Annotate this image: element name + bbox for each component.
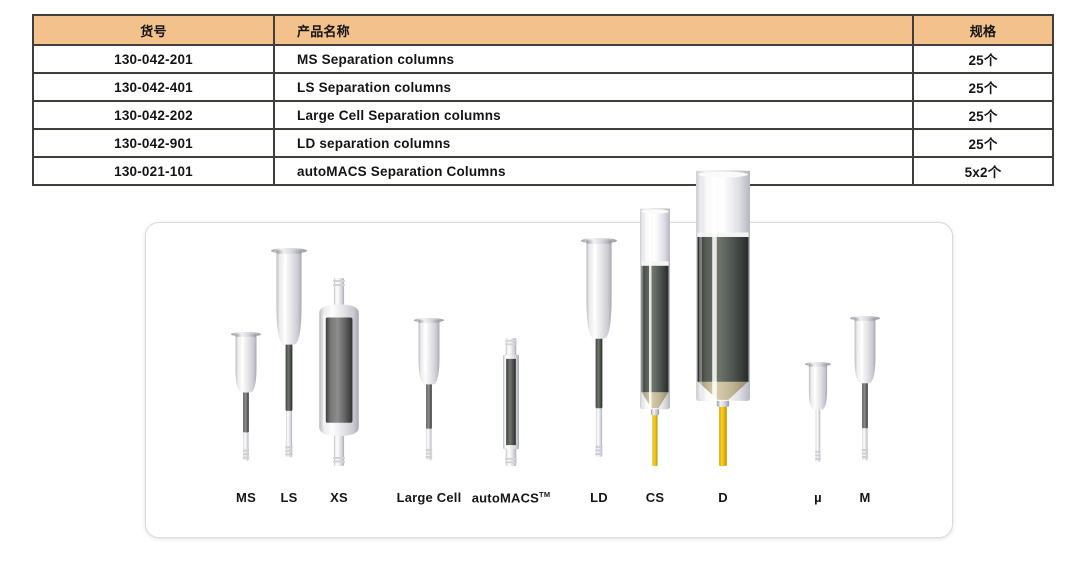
trademark-mark: TM [539, 490, 550, 499]
cell-product-code: 130-042-401 [33, 73, 274, 101]
column-label-m: M [859, 490, 870, 505]
column-illustration-cs [640, 208, 670, 471]
cell-product-code: 130-042-202 [33, 101, 274, 129]
table-row: 130-042-202Large Cell Separation columns… [33, 101, 1053, 129]
cell-product-spec: 25个 [913, 101, 1053, 129]
column-label-large-cell: Large Cell [397, 490, 462, 505]
column-label-automacs: autoMACSTM [472, 490, 551, 505]
cell-product-name: Large Cell Separation columns [274, 101, 913, 129]
cell-product-spec: 25个 [913, 129, 1053, 157]
column-illustration-ls [271, 248, 307, 471]
cell-product-code: 130-042-901 [33, 129, 274, 157]
column-header-code: 货号 [33, 15, 274, 45]
table-row: 130-021-101autoMACS Separation Columns5x… [33, 157, 1053, 185]
columns-stage: MS [146, 223, 954, 539]
column-label-text: LS [280, 490, 297, 505]
column-label-text: D [718, 490, 728, 505]
cell-product-code: 130-042-201 [33, 45, 274, 73]
column-illustration-large-cell [414, 318, 444, 471]
separation-columns-photo-panel: MS [145, 222, 953, 538]
product-table: 货号 产品名称 规格 130-042-201MS Separation colu… [32, 14, 1054, 186]
column-illustration-d [696, 170, 750, 471]
column-label-mu: µ [814, 490, 822, 505]
column-label-text: MS [236, 490, 256, 505]
column-label-ms: MS [236, 490, 256, 505]
column-illustration-m [850, 316, 880, 471]
cell-product-spec: 25个 [913, 45, 1053, 73]
cell-product-code: 130-021-101 [33, 157, 274, 185]
column-illustration-mu [805, 362, 831, 471]
table-header-row: 货号 产品名称 规格 [33, 15, 1053, 45]
cell-product-spec: 25个 [913, 73, 1053, 101]
column-header-spec: 规格 [913, 15, 1053, 45]
table-row: 130-042-901LD separation columns25个 [33, 129, 1053, 157]
column-header-name: 产品名称 [274, 15, 913, 45]
table-body: 130-042-201MS Separation columns25个130-0… [33, 45, 1053, 185]
column-label-d: D [718, 490, 728, 505]
column-label-text: M [859, 490, 870, 505]
column-label-text: LD [590, 490, 608, 505]
table-header: 货号 产品名称 规格 [33, 15, 1053, 45]
column-label-text: XS [330, 490, 348, 505]
column-label-xs: XS [330, 490, 348, 505]
table-row: 130-042-401LS Separation columns25个 [33, 73, 1053, 101]
cell-product-name: LD separation columns [274, 129, 913, 157]
table-row: 130-042-201MS Separation columns25个 [33, 45, 1053, 73]
column-label-text: Large Cell [397, 490, 462, 505]
cell-product-spec: 5x2个 [913, 157, 1053, 185]
column-illustration-ld [581, 238, 617, 471]
column-label-ls: LS [280, 490, 297, 505]
column-label-text: CS [646, 490, 664, 505]
column-label-ld: LD [590, 490, 608, 505]
cell-product-name: MS Separation columns [274, 45, 913, 73]
column-label-text: autoMACS [472, 490, 539, 505]
column-illustration-automacs [501, 338, 521, 471]
column-illustration-ms [231, 332, 261, 471]
cell-product-name: LS Separation columns [274, 73, 913, 101]
column-illustration-xs [316, 278, 362, 471]
cell-product-name: autoMACS Separation Columns [274, 157, 913, 185]
column-label-cs: CS [646, 490, 664, 505]
column-label-text: µ [814, 490, 822, 505]
